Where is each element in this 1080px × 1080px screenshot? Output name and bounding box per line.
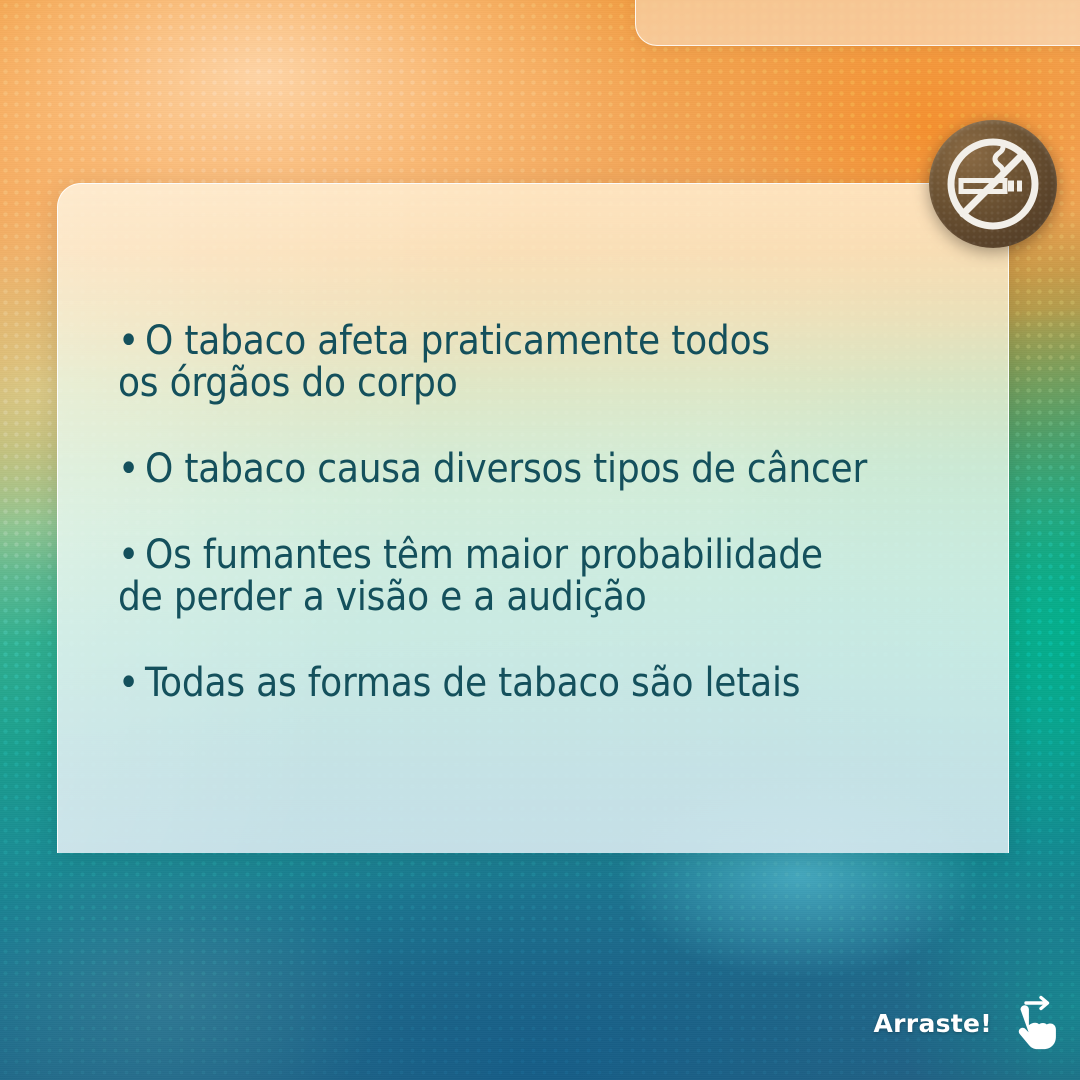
pointing-hand-icon bbox=[998, 992, 1060, 1054]
bullet-line: os órgãos do corpo bbox=[118, 362, 998, 404]
bullet-marker: • bbox=[118, 318, 139, 364]
slide-canvas: •O tabaco afeta praticamente todos os ór… bbox=[0, 0, 1080, 1080]
bullet-list: •O tabaco afeta praticamente todos os ór… bbox=[118, 320, 998, 704]
list-item: •Todas as formas de tabaco são letais bbox=[118, 662, 998, 704]
bullet-line: Todas as formas de tabaco são letais bbox=[145, 660, 800, 706]
bullet-line: de perder a visão e a audição bbox=[118, 576, 998, 618]
bullet-marker: • bbox=[118, 532, 139, 578]
no-smoking-badge bbox=[929, 120, 1057, 248]
list-item: •O tabaco causa diversos tipos de câncer bbox=[118, 448, 998, 490]
bullet-line: Os fumantes têm maior probabilidade bbox=[145, 532, 823, 578]
list-item: •Os fumantes têm maior probabilidade de … bbox=[118, 534, 998, 618]
swipe-hint-label: Arraste! bbox=[874, 1009, 992, 1038]
arrow-right-icon bbox=[1026, 998, 1048, 1009]
bullet-line: O tabaco afeta praticamente todos bbox=[145, 318, 770, 364]
content-card: •O tabaco afeta praticamente todos os ór… bbox=[57, 183, 1009, 853]
bullet-marker: • bbox=[118, 660, 139, 706]
swipe-hint[interactable]: Arraste! bbox=[874, 992, 1060, 1054]
previous-slide-card-edge bbox=[635, 0, 1080, 46]
list-item: •O tabaco afeta praticamente todos os ór… bbox=[118, 320, 998, 404]
bullet-line: O tabaco causa diversos tipos de câncer bbox=[145, 446, 867, 492]
no-smoking-icon bbox=[929, 120, 1057, 248]
bullet-marker: • bbox=[118, 446, 139, 492]
